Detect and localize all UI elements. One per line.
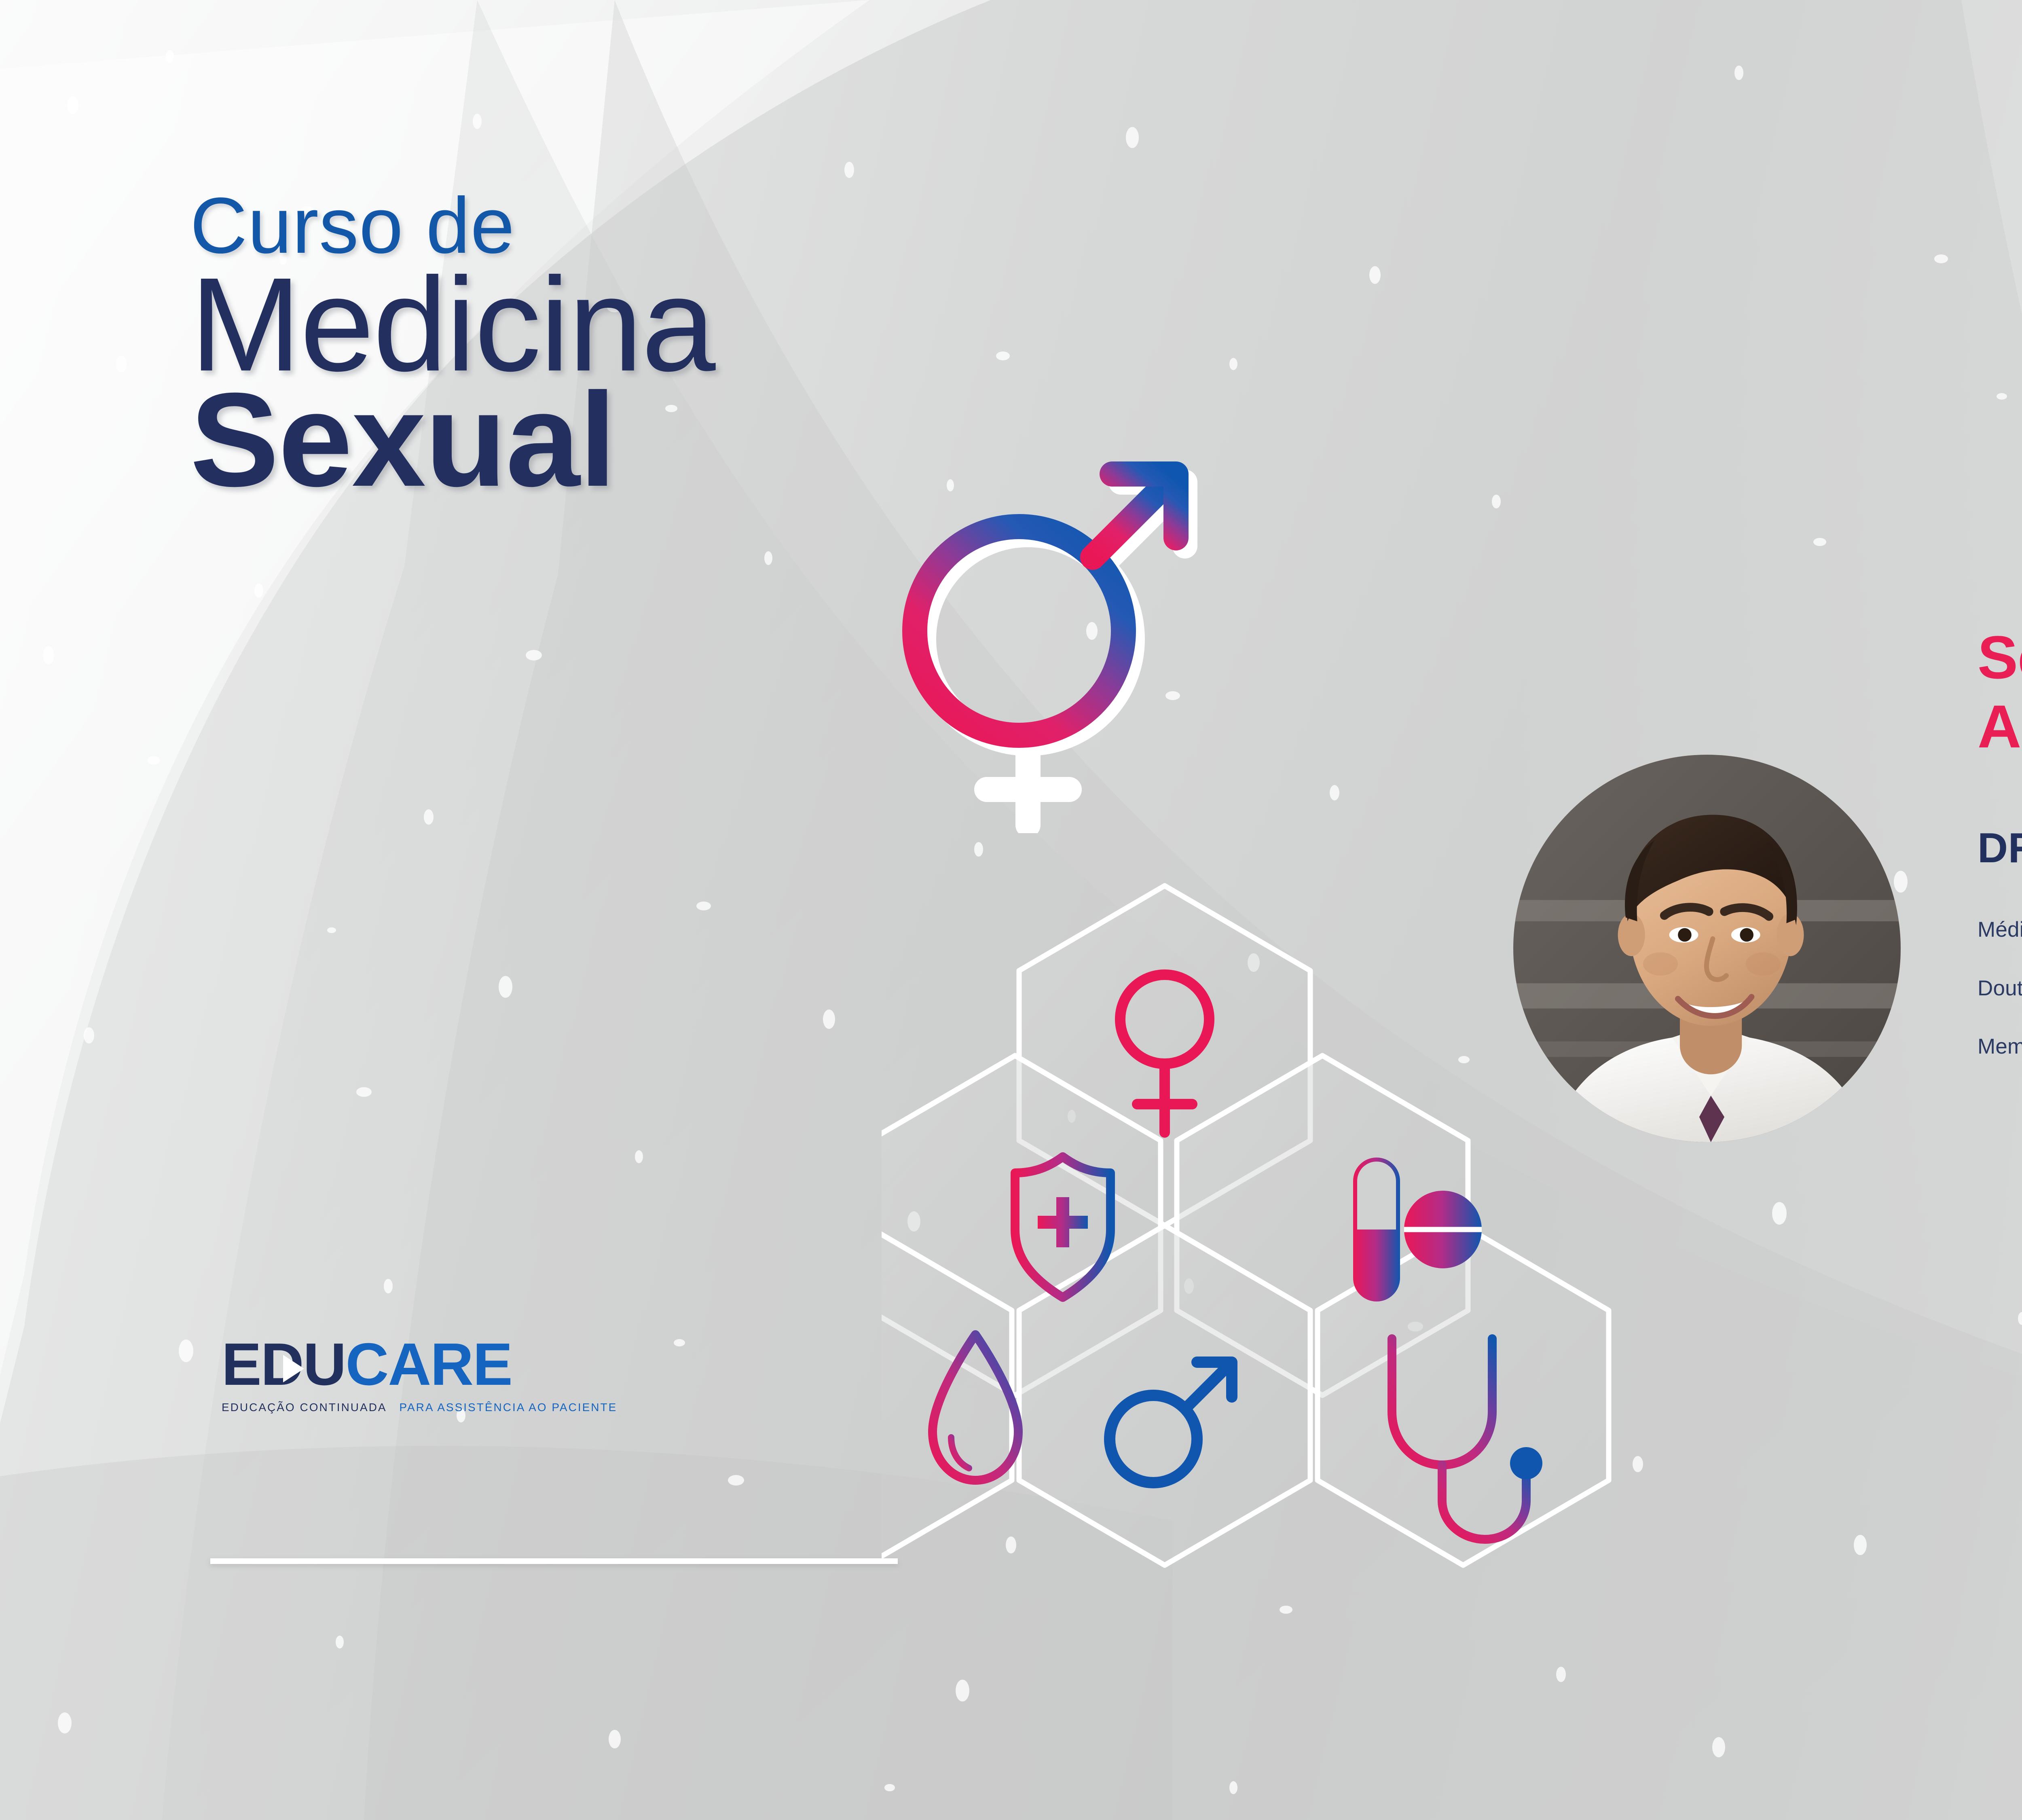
male-female-combined-icon xyxy=(869,413,1217,833)
speaker-info-column: Sexualidade da infância e dos Adolescent… xyxy=(1978,623,2022,1060)
course-title-block: Curso de Medicina Sexual xyxy=(190,186,715,503)
portrait-illustration xyxy=(1513,755,1901,1142)
educare-wordmark: EDU CARE xyxy=(222,1335,617,1395)
hexagon-shapes xyxy=(882,886,1609,1565)
speaker-credential-3: Membro do Departamento de Andrologia da … xyxy=(1978,1033,2022,1060)
lecture-title: Sexualidade da infância e dos Adolescent… xyxy=(1978,623,2022,761)
speaker-portrait-photo xyxy=(1513,755,1901,1142)
tagline-part-2: PARA ASSISTÊNCIA AO PACIENTE xyxy=(399,1401,617,1414)
speaker-credential-1: Médico Urologista xyxy=(1978,916,2022,943)
logo-care-text: CARE xyxy=(345,1335,512,1395)
educare-tagline: EDUCAÇÃO CONTINUADA PARA ASSISTÊNCIA AO … xyxy=(222,1401,617,1414)
educare-logo[interactable]: EDU CARE EDUCAÇÃO CONTINUADA PARA ASSIST… xyxy=(222,1335,617,1414)
speaker-credential-2: Doutor em Ciências pelo AC Camargo Cânce… xyxy=(1978,975,2022,1002)
tagline-part-1: EDUCAÇÃO CONTINUADA xyxy=(222,1401,386,1414)
course-banner-slide: Curso de Medicina Sexual xyxy=(0,0,2022,1820)
speaker-name: DR. GIULIANO AITA xyxy=(1978,825,2022,871)
play-triangle-icon xyxy=(283,1355,304,1382)
hexagon-baseline-rule xyxy=(210,1558,898,1564)
